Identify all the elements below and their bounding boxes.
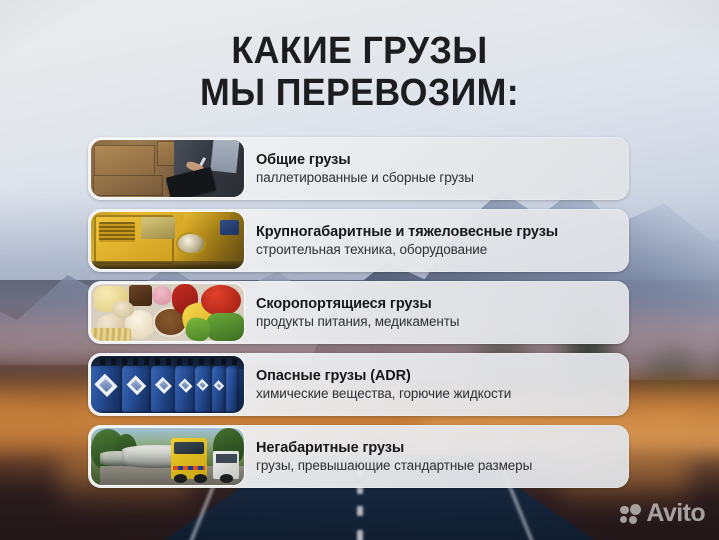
list-item[interactable]: Скоропортящиеся грузы продукты питания, … xyxy=(88,281,629,344)
list-item-text: Опасные грузы (ADR) химические вещества,… xyxy=(244,353,629,416)
list-item-text: Негабаритные грузы грузы, превышающие ст… xyxy=(244,425,629,488)
cargo-thumbnail-general xyxy=(91,140,244,197)
list-item-subtitle: продукты питания, медикаменты xyxy=(256,313,629,331)
page-title-line-1: КАКИЕ ГРУЗЫ xyxy=(22,30,698,72)
avito-watermark-label: Avito xyxy=(646,501,705,526)
cargo-thumbnail-dangerous-adr xyxy=(91,356,244,413)
list-item[interactable]: Негабаритные грузы грузы, превышающие ст… xyxy=(88,425,629,488)
page-title: КАКИЕ ГРУЗЫ МЫ ПЕРЕВОЗИМ: xyxy=(22,30,698,114)
list-item-title: Опасные грузы (ADR) xyxy=(256,367,629,385)
avito-dots-icon xyxy=(620,504,641,524)
list-item[interactable]: Опасные грузы (ADR) химические вещества,… xyxy=(88,353,629,416)
page-title-line-2: МЫ ПЕРЕВОЗИМ: xyxy=(22,72,698,114)
cargo-types-list: Общие грузы паллетированные и сборные гр… xyxy=(88,137,629,488)
list-item-subtitle: грузы, превышающие стандартные размеры xyxy=(256,457,629,475)
list-item[interactable]: Крупногабаритные и тяжеловесные грузы ст… xyxy=(88,209,629,272)
list-item-text: Скоропортящиеся грузы продукты питания, … xyxy=(244,281,629,344)
list-item-text: Крупногабаритные и тяжеловесные грузы ст… xyxy=(244,209,629,272)
avito-watermark: Avito xyxy=(620,501,705,526)
list-item-title: Общие грузы xyxy=(256,151,629,169)
cargo-thumbnail-oversized-heavy xyxy=(91,212,244,269)
list-item-title: Скоропортящиеся грузы xyxy=(256,295,629,313)
list-item[interactable]: Общие грузы паллетированные и сборные гр… xyxy=(88,137,629,200)
list-item-title: Негабаритные грузы xyxy=(256,439,629,457)
cargo-thumbnail-out-of-gauge xyxy=(91,428,244,485)
list-item-subtitle: строительная техника, оборудование xyxy=(256,241,629,259)
cargo-thumbnail-perishable xyxy=(91,284,244,341)
list-item-subtitle: паллетированные и сборные грузы xyxy=(256,169,629,187)
list-item-subtitle: химические вещества, горючие жидкости xyxy=(256,385,629,403)
list-item-text: Общие грузы паллетированные и сборные гр… xyxy=(244,137,629,200)
list-item-title: Крупногабаритные и тяжеловесные грузы xyxy=(256,223,629,241)
